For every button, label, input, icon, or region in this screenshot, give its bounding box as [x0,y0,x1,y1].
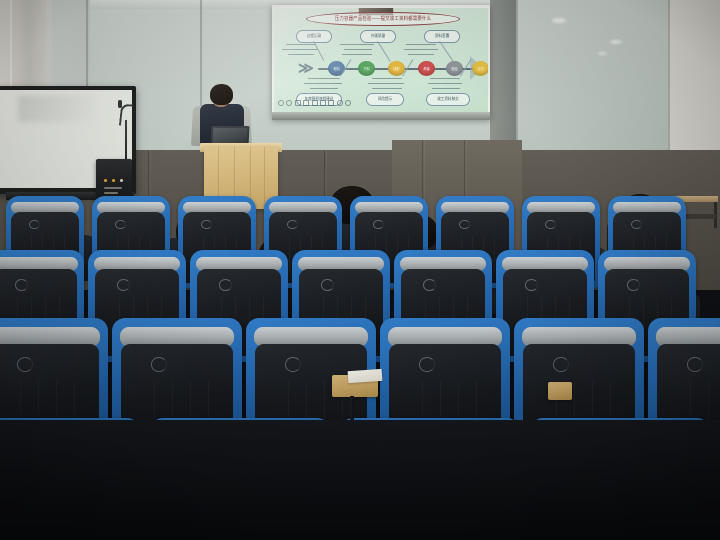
amplifier-led [104,179,107,182]
node-4: 焊接 [418,61,435,76]
projection-screen: 压力容器产品检验——提交竣工资料都需要什么 过程记录 外观质量 资料签署 [272,5,490,119]
chair-emblem [423,279,436,290]
projected-slide: 压力容器产品检验——提交竣工资料都需要什么 过程记录 外观质量 资料签署 [274,8,488,112]
chair-emblem [151,357,167,372]
chair-emblem [117,279,130,290]
chair-emblem [219,279,232,290]
microphone-stand [125,120,127,162]
conference-room-photo: 压力容器产品检验——提交竣工资料都需要什么 过程记录 外观质量 资料签署 [0,0,720,540]
screen-bottom-rail [272,112,490,120]
amplifier-slot [104,192,118,194]
note-line [408,54,434,55]
node-6: 交付 [472,61,488,76]
wall-highlight [598,52,607,55]
chair-emblem [321,279,334,290]
chair-emblem [627,279,640,290]
callout-top-3: 资料签署 [424,30,460,43]
amplifier-led [120,179,123,182]
chair-emblem [15,279,28,290]
callout-bottom-3: 竣工资料移交 [426,93,470,106]
chair-seam [494,235,495,274]
chair-emblem [285,357,301,372]
note-line [428,83,462,84]
amplifier-slot [104,187,122,189]
chair-emblem [553,357,569,372]
note-line [406,44,436,45]
note-line [404,49,438,50]
note-line [430,78,460,79]
presenter-head [210,84,233,105]
amplifier-led [112,179,115,182]
chair-emblem [687,357,703,372]
chair-emblem [17,357,33,372]
floor [0,420,720,540]
leader-line [439,41,453,61]
chair-emblem [525,279,538,290]
wall-highlight [552,18,566,23]
wall-highlight [610,40,622,44]
chair-emblem [419,357,435,372]
chair-seam [289,235,290,274]
tv-reflection [18,96,96,122]
paper-sheet [348,369,383,383]
laptop-screen [213,128,248,144]
note-line [432,88,460,89]
chair-tablet-arm[interactable] [548,382,572,400]
